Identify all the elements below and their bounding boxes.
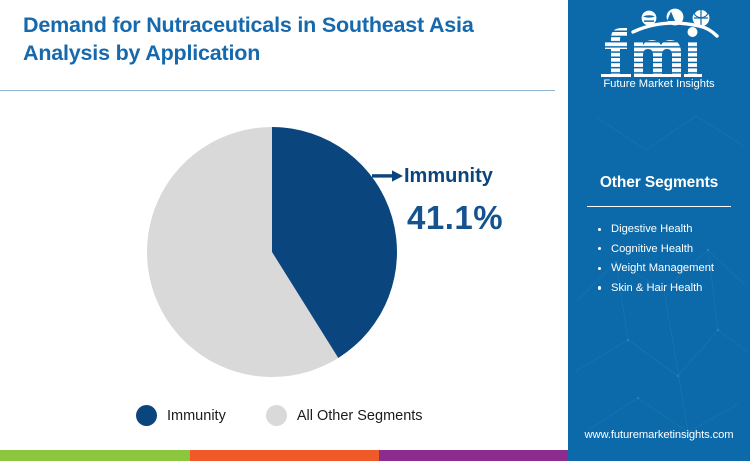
legend-label: All Other Segments: [297, 408, 423, 424]
infographic-canvas: Demand for Nutraceuticals in Southeast A…: [0, 0, 750, 461]
legend-swatch-icon: [136, 405, 157, 426]
svg-text:Future Market Insights: Future Market Insights: [603, 78, 715, 90]
list-item: Skin & Hair Health: [596, 281, 746, 296]
legend-swatch-icon: [266, 405, 287, 426]
list-item: Weight Management: [596, 261, 746, 276]
callout-label: Immunity: [404, 165, 493, 188]
pie-chart: [147, 127, 397, 377]
color-bar-purple: [379, 450, 568, 461]
list-item: Digestive Health: [596, 222, 746, 237]
site-url[interactable]: www.futuremarketinsights.com: [568, 429, 750, 441]
fmi-logo-icon: Future Market Insights: [589, 6, 729, 90]
title-divider: [0, 90, 555, 91]
other-segments-divider: [587, 206, 731, 207]
list-item: Cognitive Health: [596, 242, 746, 257]
legend-item-immunity: Immunity: [136, 405, 226, 426]
arrow-right-icon: [372, 169, 404, 183]
chart-legend: Immunity All Other Segments: [136, 405, 423, 426]
legend-label: Immunity: [167, 408, 226, 424]
other-segments-list: Digestive Health Cognitive Health Weight…: [596, 222, 746, 300]
main-panel: Demand for Nutraceuticals in Southeast A…: [0, 0, 568, 447]
page-title: Demand for Nutraceuticals in Southeast A…: [23, 11, 533, 68]
legend-item-all-other-segments: All Other Segments: [266, 405, 423, 426]
color-bar-green: [0, 450, 190, 461]
color-bar-orange: [190, 450, 379, 461]
other-segments-title: Other Segments: [568, 174, 750, 192]
callout-value: 41.1%: [407, 199, 503, 237]
bottom-color-bar: [0, 450, 568, 461]
fmi-logo: Future Market Insights: [568, 6, 750, 90]
